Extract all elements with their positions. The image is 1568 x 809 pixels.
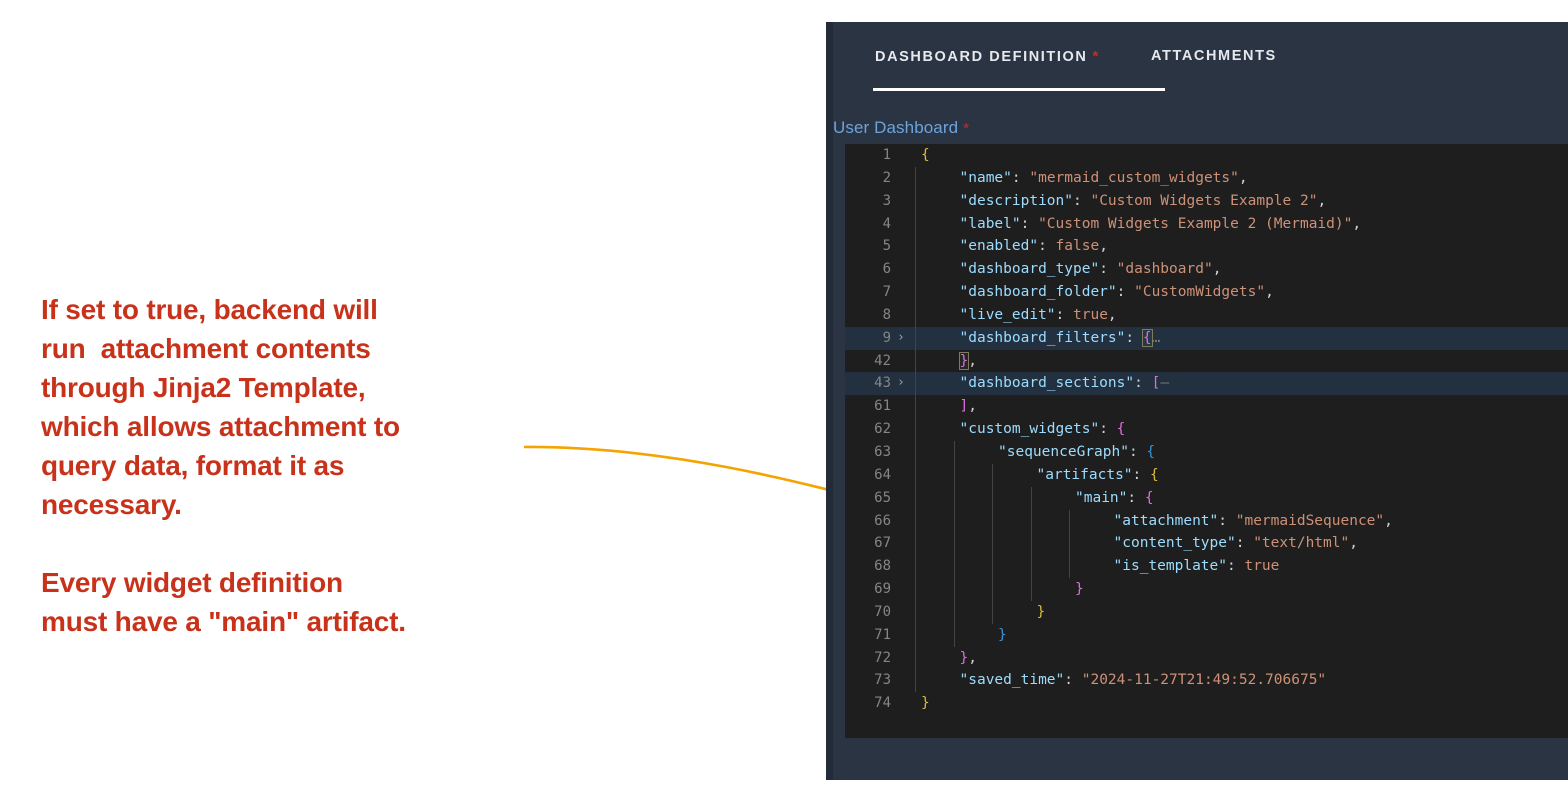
tab-required-star: *: [1092, 48, 1098, 65]
editor-footer: [833, 738, 1568, 780]
line-number: 43: [845, 372, 891, 395]
indent-guide: [954, 601, 955, 624]
code-line[interactable]: 4"label": "Custom Widgets Example 2 (Mer…: [845, 213, 1568, 236]
line-number: 65: [845, 487, 891, 510]
code-line-text: },: [960, 350, 977, 373]
code-line-text: {: [921, 144, 930, 167]
indent-guide: [992, 578, 993, 601]
indent-guide: [1031, 532, 1032, 555]
indent-guide: [992, 601, 993, 624]
indent-guide: [915, 258, 916, 281]
code-line[interactable]: 8"live_edit": true,: [845, 304, 1568, 327]
indent-guide: [1031, 510, 1032, 533]
fold-chevron-icon[interactable]: ›: [897, 372, 911, 395]
code-line-text: "artifacts": {: [1037, 464, 1159, 487]
line-number: 67: [845, 532, 891, 555]
code-line-text: "custom_widgets": {: [960, 418, 1126, 441]
line-number: 42: [845, 350, 891, 373]
line-number: 62: [845, 418, 891, 441]
tab-dashboard-definition[interactable]: DASHBOARD DEFINITION*: [875, 48, 1098, 65]
code-line[interactable]: 66"attachment": "mermaidSequence",: [845, 510, 1568, 533]
indent-guide: [915, 464, 916, 487]
field-label: User Dashboard: [833, 118, 958, 137]
code-line-text: "is_template": true: [1114, 555, 1280, 578]
code-line-text: "attachment": "mermaidSequence",: [1114, 510, 1393, 533]
code-line[interactable]: 6"dashboard_type": "dashboard",: [845, 258, 1568, 281]
indent-guide: [954, 441, 955, 464]
code-line-text: ],: [960, 395, 977, 418]
code-line-text: "main": {: [1075, 487, 1154, 510]
code-line-text: "label": "Custom Widgets Example 2 (Merm…: [960, 213, 1362, 236]
indent-guide: [1031, 487, 1032, 510]
code-line[interactable]: 2"name": "mermaid_custom_widgets",: [845, 167, 1568, 190]
indent-guide: [915, 213, 916, 236]
code-line-text: "description": "Custom Widgets Example 2…: [960, 190, 1327, 213]
code-line[interactable]: 71}: [845, 624, 1568, 647]
line-number: 7: [845, 281, 891, 304]
line-number: 1: [845, 144, 891, 167]
indent-guide: [915, 441, 916, 464]
indent-guide: [1069, 510, 1070, 533]
indent-guide: [915, 601, 916, 624]
code-line-text: "name": "mermaid_custom_widgets",: [960, 167, 1248, 190]
code-line[interactable]: 69}: [845, 578, 1568, 601]
dashboard-editor-panel: DASHBOARD DEFINITION* ATTACHMENTS User D…: [826, 22, 1568, 780]
indent-guide: [915, 555, 916, 578]
code-line[interactable]: 73"saved_time": "2024-11-27T21:49:52.706…: [845, 669, 1568, 692]
indent-guide: [915, 281, 916, 304]
indent-guide: [915, 372, 916, 395]
code-line-text: "dashboard_filters": {…: [960, 327, 1161, 350]
code-line[interactable]: 68"is_template": true: [845, 555, 1568, 578]
indent-guide: [915, 350, 916, 373]
code-line-text: "saved_time": "2024-11-27T21:49:52.70667…: [960, 669, 1327, 692]
indent-guide: [915, 327, 916, 350]
line-number: 71: [845, 624, 891, 647]
line-number: 69: [845, 578, 891, 601]
code-line[interactable]: 70}: [845, 601, 1568, 624]
indent-guide: [915, 235, 916, 258]
field-label-row: User Dashboard*: [833, 118, 969, 144]
code-line-text: "dashboard_sections": [—: [960, 372, 1170, 395]
indent-guide: [915, 395, 916, 418]
annotation-panel: If set to true, backend will run attachm…: [41, 290, 541, 641]
code-line[interactable]: 61],: [845, 395, 1568, 418]
code-line-text: }: [1075, 578, 1084, 601]
code-line[interactable]: 3"description": "Custom Widgets Example …: [845, 190, 1568, 213]
indent-guide: [954, 624, 955, 647]
code-line[interactable]: 42},: [845, 350, 1568, 373]
indent-guide: [992, 555, 993, 578]
code-line-text: "sequenceGraph": {: [998, 441, 1155, 464]
code-line-text: },: [960, 647, 977, 670]
panel-left-rail: [826, 22, 833, 780]
line-number: 74: [845, 692, 891, 715]
code-line-text: }: [921, 692, 930, 715]
code-line[interactable]: 67"content_type": "text/html",: [845, 532, 1568, 555]
indent-guide: [915, 190, 916, 213]
tab-dashboard-definition-label: DASHBOARD DEFINITION: [875, 49, 1087, 65]
code-line[interactable]: 64"artifacts": {: [845, 464, 1568, 487]
code-line[interactable]: 63"sequenceGraph": {: [845, 441, 1568, 464]
line-number: 5: [845, 235, 891, 258]
code-line-text: "content_type": "text/html",: [1114, 532, 1358, 555]
indent-guide: [1031, 578, 1032, 601]
line-number: 72: [845, 647, 891, 670]
line-number: 70: [845, 601, 891, 624]
indent-guide: [915, 304, 916, 327]
tab-bar: DASHBOARD DEFINITION* ATTACHMENTS: [833, 22, 1568, 97]
json-code-editor[interactable]: 1{2"name": "mermaid_custom_widgets",3"de…: [845, 144, 1568, 738]
code-line-text: "enabled": false,: [960, 235, 1108, 258]
code-line[interactable]: 62"custom_widgets": {: [845, 418, 1568, 441]
line-number: 64: [845, 464, 891, 487]
code-line[interactable]: 7"dashboard_folder": "CustomWidgets",: [845, 281, 1568, 304]
code-line[interactable]: 9›"dashboard_filters": {…: [845, 327, 1568, 350]
indent-guide: [915, 647, 916, 670]
indent-guide: [915, 578, 916, 601]
indent-guide: [915, 487, 916, 510]
line-number: 61: [845, 395, 891, 418]
code-line[interactable]: 72},: [845, 647, 1568, 670]
tab-attachments-label: ATTACHMENTS: [1151, 48, 1277, 64]
code-line-text: }: [998, 624, 1007, 647]
line-number: 9: [845, 327, 891, 350]
line-number: 68: [845, 555, 891, 578]
indent-guide: [915, 167, 916, 190]
indent-guide: [915, 624, 916, 647]
indent-guide: [1069, 532, 1070, 555]
annotation-paragraph-1: If set to true, backend will run attachm…: [41, 290, 541, 524]
annotation-paragraph-2: Every widget definition must have a "mai…: [41, 563, 541, 641]
code-line-text: "dashboard_folder": "CustomWidgets",: [960, 281, 1274, 304]
code-line[interactable]: 74}: [845, 692, 1568, 715]
indent-guide: [992, 487, 993, 510]
indent-guide: [954, 532, 955, 555]
field-required-star: *: [963, 120, 969, 137]
indent-guide: [992, 510, 993, 533]
line-number: 8: [845, 304, 891, 327]
line-number: 2: [845, 167, 891, 190]
tab-attachments[interactable]: ATTACHMENTS: [1151, 48, 1277, 64]
code-line-text: "dashboard_type": "dashboard",: [960, 258, 1222, 281]
indent-guide: [915, 532, 916, 555]
indent-guide: [954, 487, 955, 510]
indent-guide: [1031, 555, 1032, 578]
code-line[interactable]: 43›"dashboard_sections": [—: [845, 372, 1568, 395]
fold-chevron-icon[interactable]: ›: [897, 327, 911, 350]
indent-guide: [915, 669, 916, 692]
line-number: 63: [845, 441, 891, 464]
indent-guide: [915, 418, 916, 441]
line-number: 73: [845, 669, 891, 692]
indent-guide: [954, 578, 955, 601]
indent-guide: [954, 510, 955, 533]
code-line-text: "live_edit": true,: [960, 304, 1117, 327]
indent-guide: [992, 464, 993, 487]
code-line[interactable]: 1{: [845, 144, 1568, 167]
line-number: 66: [845, 510, 891, 533]
code-line[interactable]: 5"enabled": false,: [845, 235, 1568, 258]
indent-guide: [992, 532, 993, 555]
line-number: 6: [845, 258, 891, 281]
code-lines-container: 1{2"name": "mermaid_custom_widgets",3"de…: [845, 144, 1568, 715]
indent-guide: [1069, 555, 1070, 578]
indent-guide: [954, 464, 955, 487]
code-line[interactable]: 65"main": {: [845, 487, 1568, 510]
code-line-text: }: [1037, 601, 1046, 624]
indent-guide: [915, 510, 916, 533]
line-number: 3: [845, 190, 891, 213]
active-tab-underline: [873, 88, 1165, 91]
line-number: 4: [845, 213, 891, 236]
indent-guide: [954, 555, 955, 578]
